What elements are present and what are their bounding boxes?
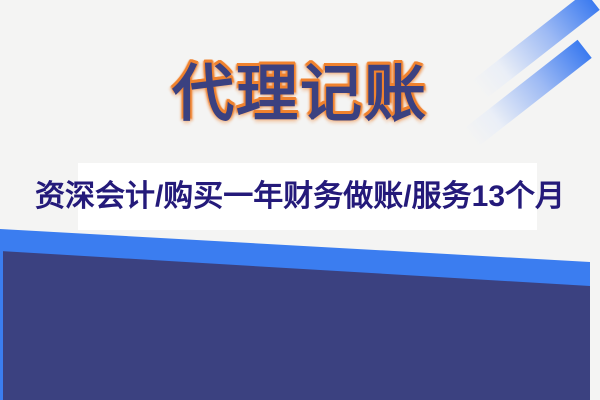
angled-band-navy [0, 251, 590, 400]
page-title: 代理记账 [0, 58, 600, 132]
left-edge-accent [0, 250, 3, 400]
subtitle-text: 资深会计/购买一年财务做账/服务13个月 [0, 176, 600, 218]
promo-banner: 代理记账 资深会计/购买一年财务做账/服务13个月 [0, 0, 600, 400]
angled-band-blue [0, 229, 590, 400]
